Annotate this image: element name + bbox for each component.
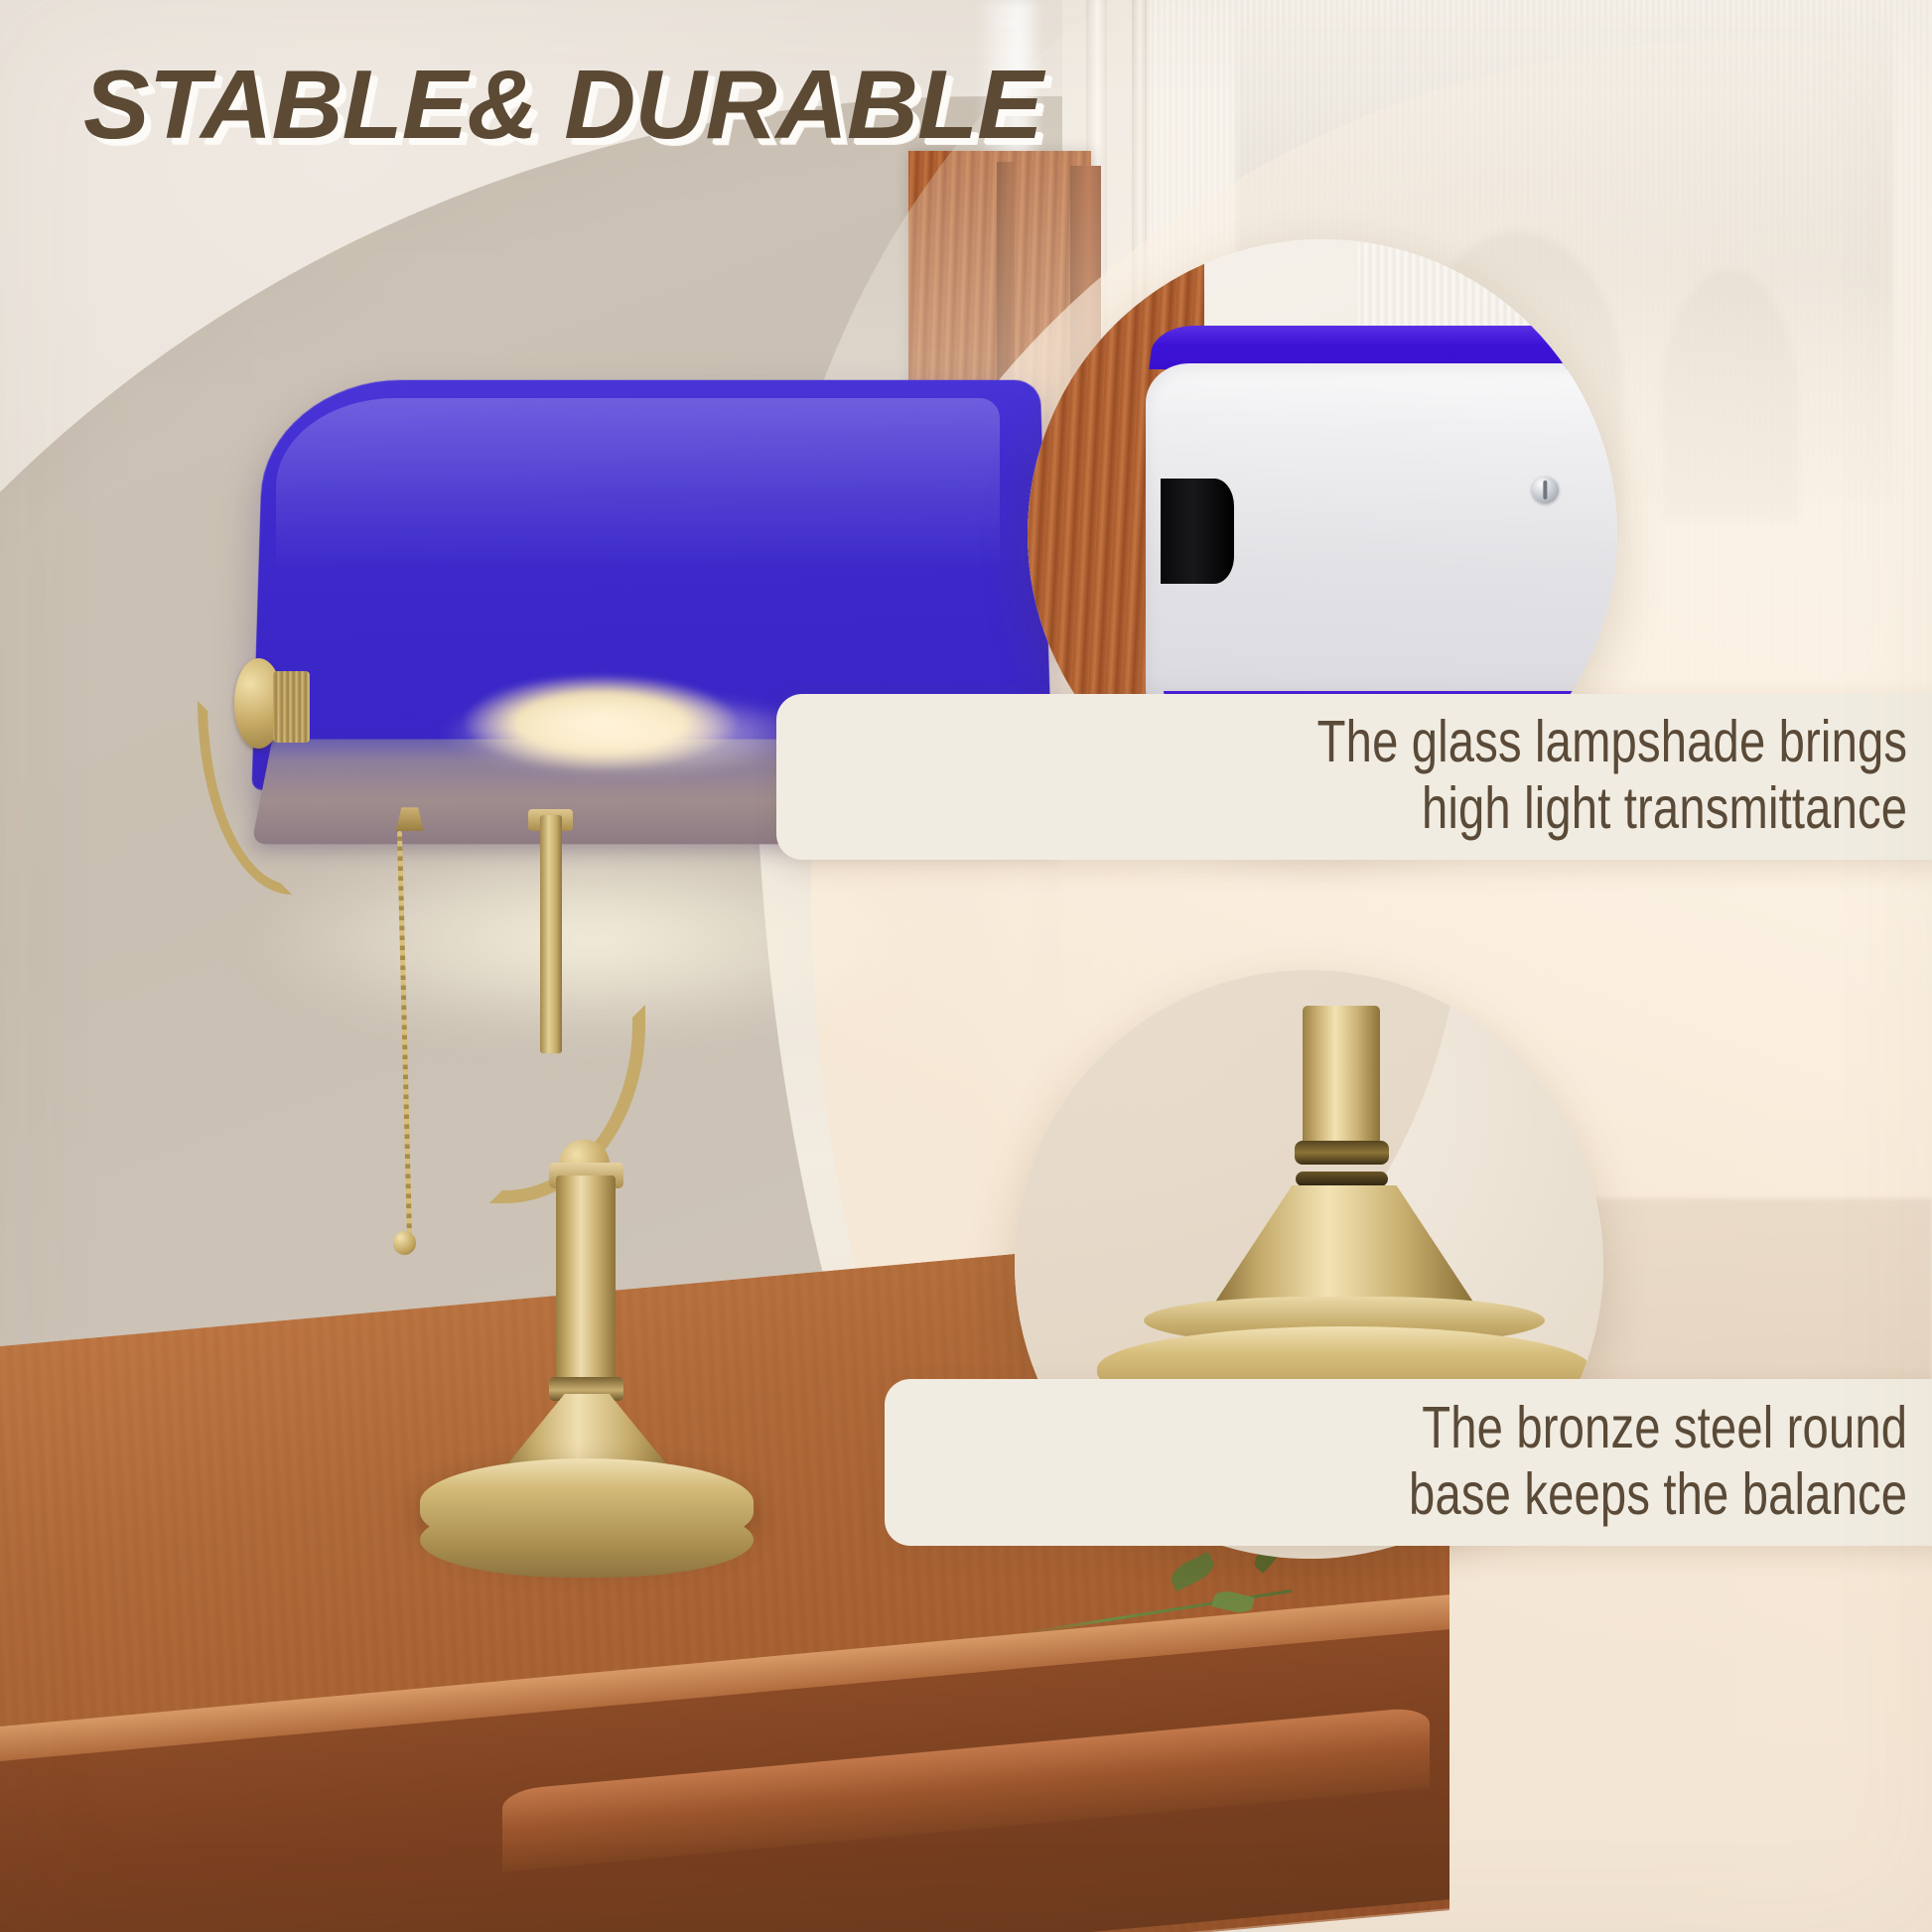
callout-base-line1: The bronze steel round [1131, 1395, 1908, 1461]
lampshade-highlight [276, 398, 1000, 571]
callout-lampshade-line2: high light transmittance [1044, 775, 1908, 842]
inset-black-socket [1161, 479, 1234, 585]
page-title: STABLE& DURABLE [83, 56, 1042, 153]
inset-neck-dark-ring [1295, 1141, 1389, 1165]
sprig-leaf [1211, 1588, 1254, 1616]
bronze-round-base-band [420, 1502, 754, 1578]
sprig-stem [1026, 1589, 1294, 1635]
callout-lampshade: The glass lampshade brings high light tr… [776, 694, 1932, 860]
product-feature-poster: STABLE& DURABLE The glass lampshade brin… [0, 0, 1932, 1932]
callout-base-line2: base keeps the balance [1131, 1461, 1908, 1528]
inset-neck-dark-ring-secondary [1296, 1172, 1388, 1186]
bankers-desk-lamp [184, 376, 1111, 1458]
brass-column [556, 1175, 616, 1403]
callout-lampshade-line1: The glass lampshade brings [1044, 709, 1908, 775]
inset-chrome-screw [1532, 477, 1559, 503]
brass-knob-rings [273, 671, 310, 743]
pull-chain-bead[interactable] [393, 1231, 416, 1255]
inset-brass-neck [1303, 1006, 1379, 1147]
callout-base: The bronze steel round base keeps the ba… [885, 1379, 1932, 1545]
